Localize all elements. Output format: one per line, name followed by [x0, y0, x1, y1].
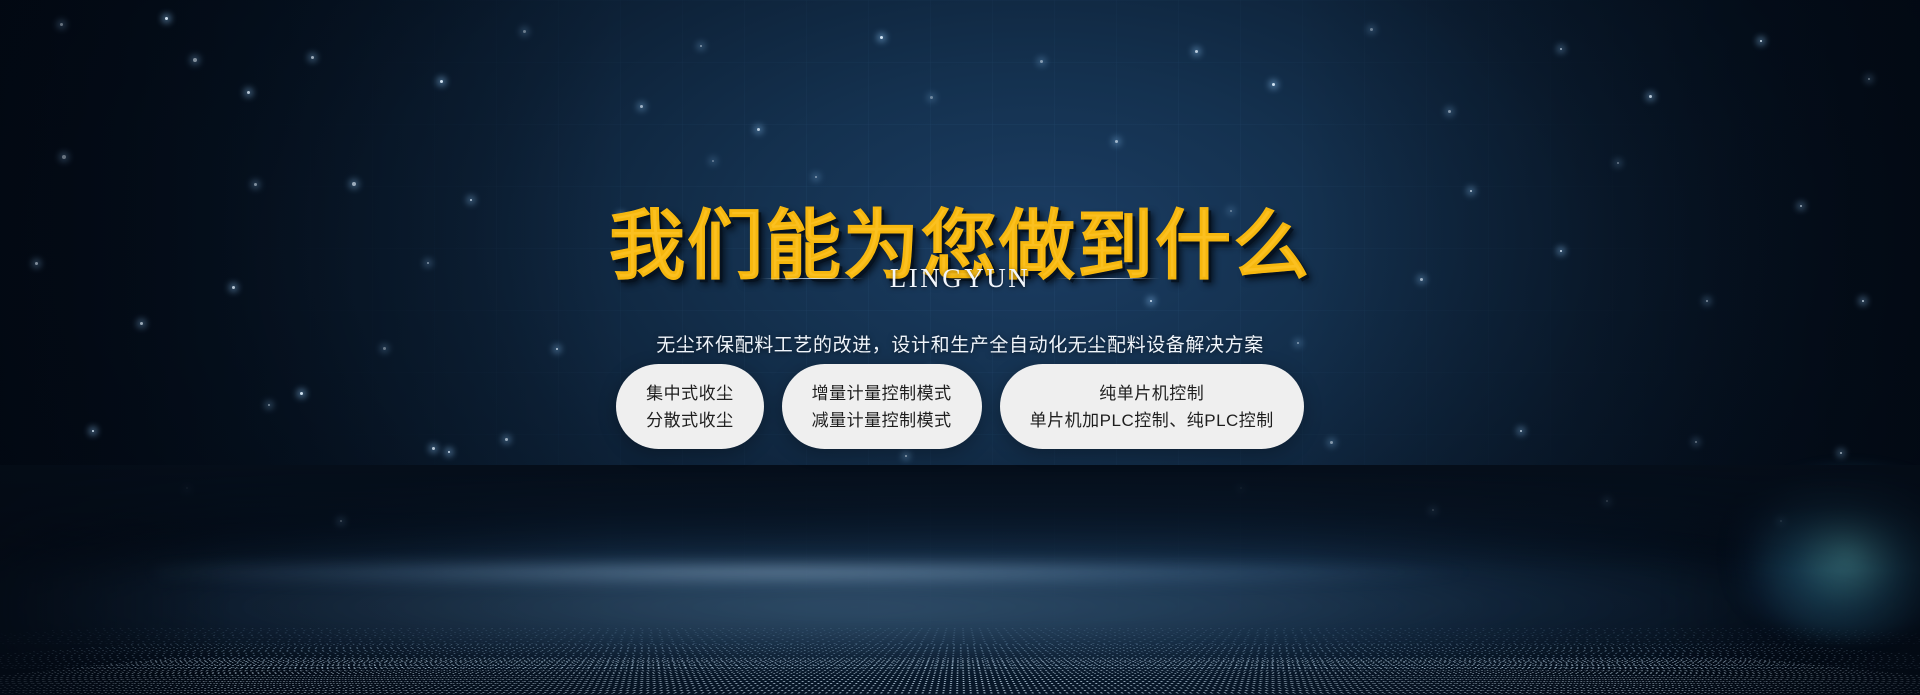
feature-pill-line: 单片机加PLC控制、纯PLC控制 [1030, 412, 1274, 429]
feature-pill-group: 集中式收尘分散式收尘增量计量控制模式减量计量控制模式纯单片机控制单片机加PLC控… [0, 364, 1920, 449]
hero-banner: 我们能为您做到什么 LINGYUN 无尘环保配料工艺的改进，设计和生产全自动化无… [0, 0, 1920, 695]
subtitle-rule-left [760, 278, 864, 279]
feature-pill-mcu-plc-control[interactable]: 纯单片机控制单片机加PLC控制、纯PLC控制 [1000, 364, 1304, 449]
banner-description: 无尘环保配料工艺的改进，设计和生产全自动化无尘配料设备解决方案 [0, 330, 1920, 357]
feature-pill-metering-control-mode[interactable]: 增量计量控制模式减量计量控制模式 [782, 364, 982, 449]
feature-pill-line: 增量计量控制模式 [812, 385, 952, 402]
subtitle-row: LINGYUN [0, 263, 1920, 294]
brand-subtitle: LINGYUN [890, 263, 1030, 294]
feature-pill-dust-collection[interactable]: 集中式收尘分散式收尘 [616, 364, 764, 449]
feature-pill-line: 纯单片机控制 [1099, 385, 1204, 402]
subtitle-rule-right [1056, 278, 1160, 279]
banner-content: 我们能为您做到什么 LINGYUN 无尘环保配料工艺的改进，设计和生产全自动化无… [0, 0, 1920, 695]
feature-pill-line: 分散式收尘 [646, 412, 734, 429]
feature-pill-line: 减量计量控制模式 [812, 412, 952, 429]
feature-pill-line: 集中式收尘 [646, 385, 734, 402]
